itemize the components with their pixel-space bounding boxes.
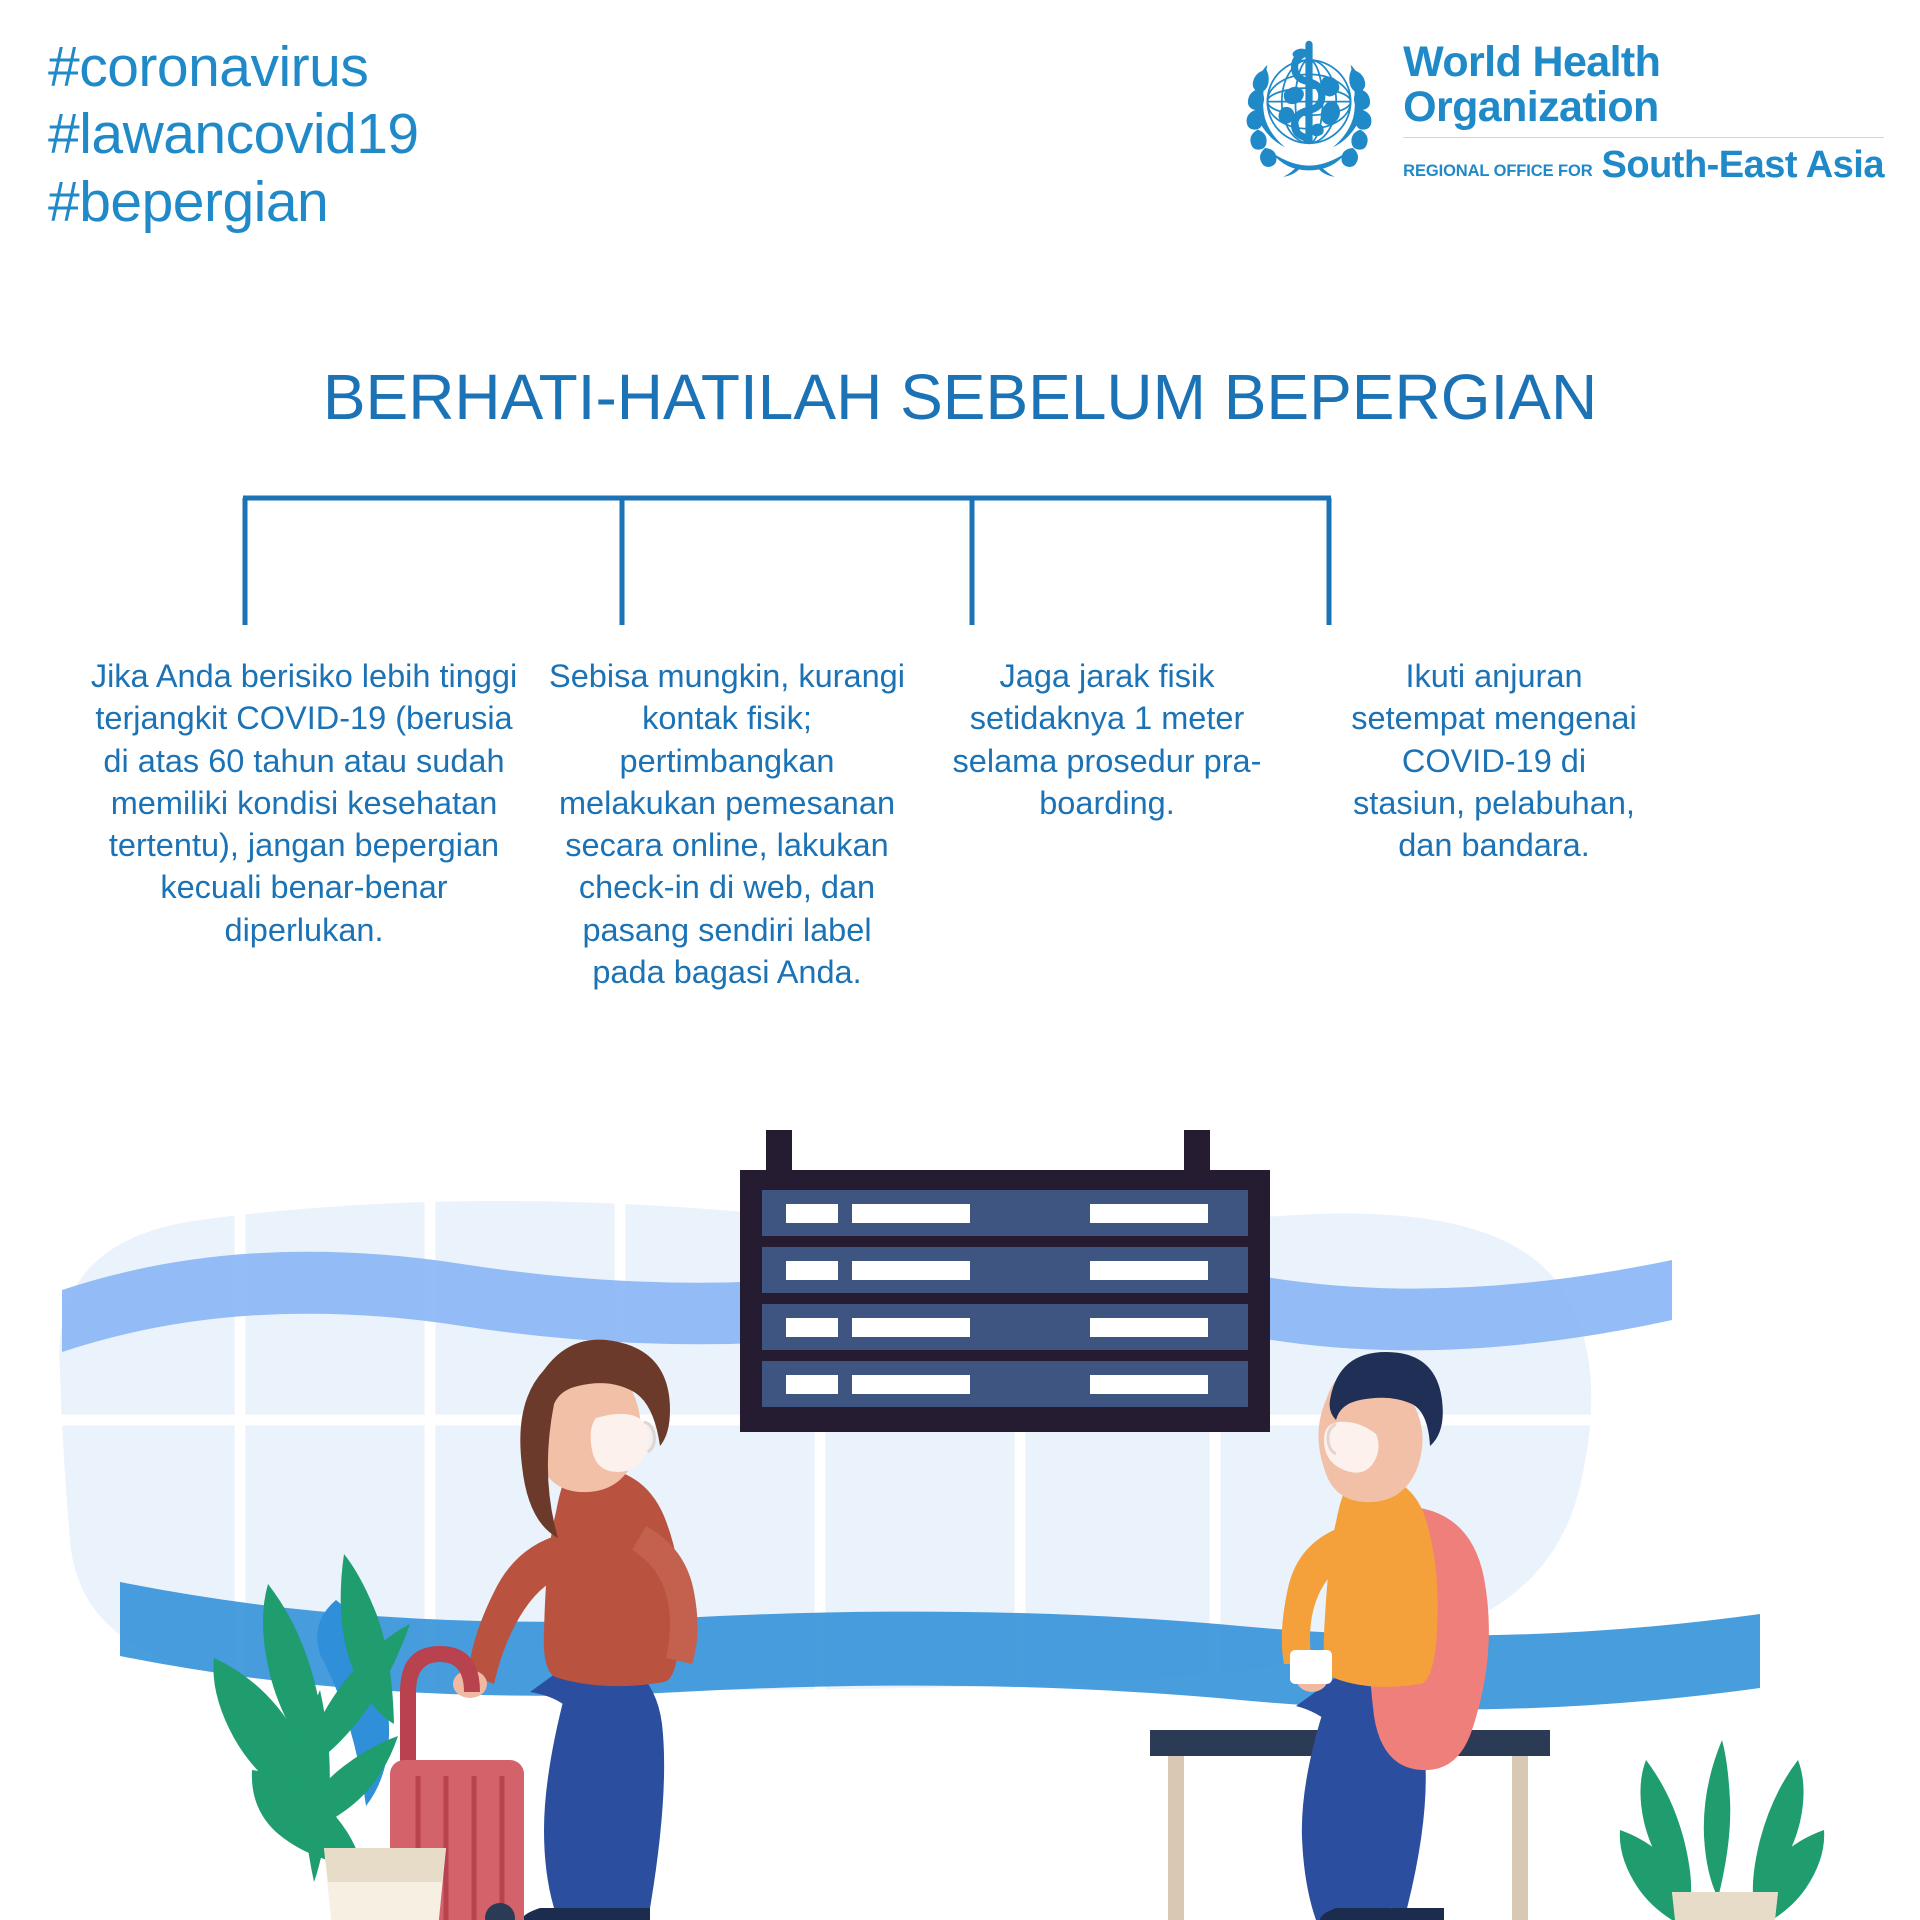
page-title: BERHATI-HATILAH SEBELUM BEPERGIAN bbox=[0, 360, 1920, 434]
boarding-pass bbox=[1290, 1650, 1332, 1684]
hashtag-coronavirus: #coronavirus bbox=[48, 34, 419, 101]
who-name-line2: Organization bbox=[1403, 85, 1884, 130]
airport-terminal-illustration bbox=[0, 1130, 1920, 1920]
traveller2-vest bbox=[1324, 1476, 1438, 1687]
bracket-connector bbox=[0, 480, 1920, 650]
advice-column-risk: Jika Anda berisiko lebih tinggi terjangk… bbox=[84, 655, 524, 951]
plant-right-pot-rim bbox=[1672, 1892, 1778, 1920]
departure-board bbox=[740, 1130, 1270, 1432]
who-logo-text: World Health Organization REGIONAL OFFIC… bbox=[1403, 28, 1884, 187]
advice-columns: Jika Anda berisiko lebih tinggi terjangk… bbox=[60, 655, 1860, 993]
advice-column-distance: Jaga jarak fisik setidaknya 1 meter sela… bbox=[942, 655, 1272, 824]
potted-plant-right bbox=[1620, 1740, 1824, 1920]
who-regional-office-label: REGIONAL OFFICE FOR bbox=[1403, 162, 1592, 181]
who-logo-divider bbox=[1403, 137, 1884, 138]
who-region-name: South-East Asia bbox=[1602, 144, 1884, 187]
hashtag-lawancovid19: #lawancovid19 bbox=[48, 101, 419, 168]
who-logo: World Health Organization REGIONAL OFFIC… bbox=[1229, 28, 1884, 188]
who-name-line1: World Health bbox=[1403, 40, 1884, 85]
infographic-poster: #coronavirus #lawancovid19 #bepergian bbox=[0, 0, 1920, 1920]
advice-column-contact: Sebisa mungkin, kurangi kontak fisik; pe… bbox=[542, 655, 912, 993]
hashtag-bepergian: #bepergian bbox=[48, 169, 419, 236]
who-emblem-icon bbox=[1229, 28, 1389, 188]
advice-column-local-guidance: Ikuti anjuran setempat mengenai COVID-19… bbox=[1344, 655, 1644, 866]
plant-left-pot-rim bbox=[324, 1848, 446, 1882]
hashtag-block: #coronavirus #lawancovid19 #bepergian bbox=[48, 34, 419, 236]
